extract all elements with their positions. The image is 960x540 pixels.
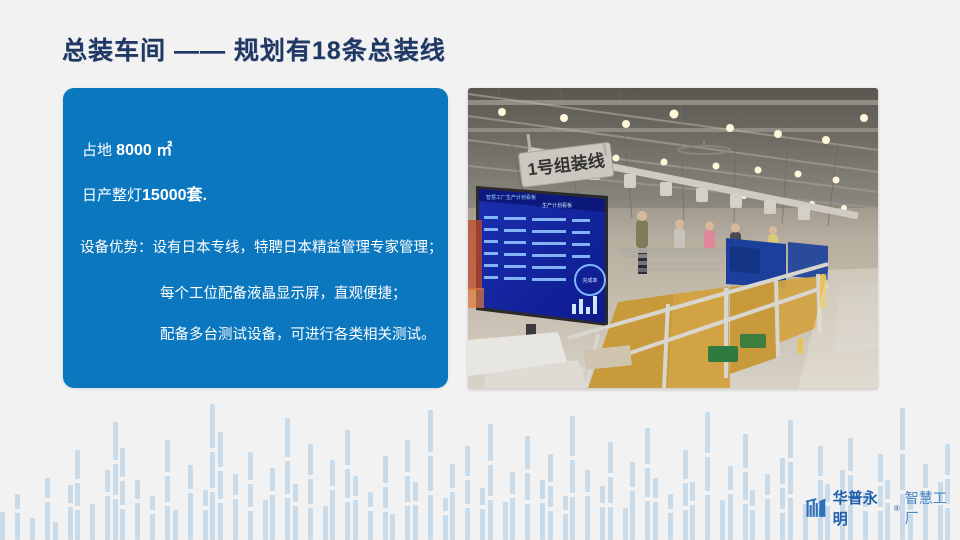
bar-gap — [443, 511, 448, 515]
decorative-bar — [203, 490, 208, 540]
decorative-bar — [233, 474, 238, 540]
bar-gap — [308, 475, 313, 479]
decorative-bar — [113, 422, 118, 540]
area-label: 占地 — [82, 142, 116, 159]
decorative-bar — [705, 412, 710, 540]
svg-text:完成率: 完成率 — [582, 277, 597, 284]
bar-gap — [488, 461, 493, 465]
bar-gap — [563, 510, 568, 514]
logo-sub-brand: 智慧工厂 — [905, 488, 960, 528]
bar-gap — [218, 467, 223, 471]
bar-gap — [405, 502, 410, 506]
decorative-bar — [45, 478, 50, 540]
bar-gap — [233, 495, 238, 499]
bar-gap — [150, 510, 155, 514]
slide-root: 总装车间 —— 规划有18条总装线 占地 8000 ㎡ 日产整灯15000套. … — [0, 0, 960, 540]
decorative-bar — [30, 518, 35, 540]
bar-gap — [465, 476, 470, 480]
workshop-photo-illustration: 1号组装线 智慧工厂生产计划看板 生产计划看板 — [468, 88, 878, 389]
bar-gap — [210, 488, 215, 492]
info-card: 占地 8000 ㎡ 日产整灯15000套. 设备优势：设有日本专线，特聘日本精益… — [63, 88, 448, 388]
page-title: 总装车间 —— 规划有18条总装线 — [62, 31, 446, 67]
bar-gap — [788, 458, 793, 462]
output-value: 15000套. — [142, 187, 207, 204]
decorative-bar — [353, 476, 358, 540]
decorative-bar — [548, 454, 553, 540]
bar-gap — [570, 493, 575, 497]
decorative-bar — [540, 480, 545, 540]
decorative-bar — [750, 490, 755, 540]
bar-gap — [210, 448, 215, 452]
bar-gap — [428, 452, 433, 456]
bar-gap — [743, 500, 748, 504]
bar-gap — [465, 504, 470, 508]
svg-text:智慧工厂生产计划看板: 智慧工厂生产计划看板 — [486, 194, 536, 201]
bar-gap — [120, 477, 125, 481]
bar-gap — [645, 464, 650, 468]
decorative-bar — [690, 482, 695, 540]
bar-gap — [705, 491, 710, 495]
decorative-bar — [683, 450, 688, 540]
area-line: 占地 8000 ㎡ — [82, 141, 172, 160]
decorative-bar — [668, 494, 673, 540]
decorative-bar — [480, 488, 485, 540]
decorative-bar — [428, 410, 433, 540]
bar-gap — [488, 496, 493, 500]
bar-gap — [480, 505, 485, 509]
bar-gap — [570, 456, 575, 460]
bar-gap — [600, 503, 605, 507]
decorative-bar — [525, 436, 530, 540]
bar-gap — [780, 484, 785, 488]
bar-gap — [405, 472, 410, 476]
decorative-bar — [570, 416, 575, 540]
decorative-bar — [390, 514, 395, 540]
decorative-bar — [465, 446, 470, 540]
bar-gap — [510, 494, 515, 498]
decorative-bar — [90, 504, 95, 540]
decorative-bar — [608, 442, 613, 540]
bar-gap — [945, 475, 950, 479]
decorative-bar — [293, 484, 298, 540]
bar-gap — [345, 465, 350, 469]
advantage-line-2: 每个工位配备液晶显示屏，直观便捷； — [160, 286, 407, 303]
workshop-photo: 1号组装线 智慧工厂生产计划看板 生产计划看板 — [468, 88, 878, 389]
bar-gap — [788, 494, 793, 498]
decorative-bar — [413, 482, 418, 540]
bar-gap — [585, 492, 590, 496]
bar-gap — [728, 490, 733, 494]
bar-gap — [75, 479, 80, 483]
bar-gap — [668, 509, 673, 513]
logo-brand-name: 华普永明 — [833, 487, 892, 529]
decorative-bar — [0, 512, 5, 540]
bar-gap — [525, 469, 530, 473]
decorative-bar — [210, 404, 215, 540]
bar-gap — [548, 507, 553, 511]
logo-registered-mark: ® — [894, 504, 900, 513]
bar-gap — [540, 499, 545, 503]
bar-gap — [645, 497, 650, 501]
output-line: 日产整灯15000套. — [82, 186, 207, 205]
advantage-line-3: 配备多台测试设备，可进行各类相关测试。 — [160, 327, 436, 344]
decorative-bar — [285, 418, 290, 540]
decorative-bar — [330, 460, 335, 540]
bar-gap — [188, 489, 193, 493]
bar-gap — [383, 483, 388, 487]
bar-gap — [345, 498, 350, 502]
bar-gap — [285, 494, 290, 498]
decorative-bar — [653, 478, 658, 540]
bar-gap — [293, 502, 298, 506]
bar-gap — [120, 505, 125, 509]
bar-gap — [135, 499, 140, 503]
decorative-bar — [383, 456, 388, 540]
bar-gap — [743, 468, 748, 472]
bar-gap — [248, 507, 253, 511]
bar-gap — [750, 506, 755, 510]
bar-gap — [608, 503, 613, 507]
advantage-line-1: 设备优势：设有日本专线，特聘日本精益管理专家管理； — [80, 240, 443, 257]
bar-gap — [368, 507, 373, 511]
output-label: 日产整灯 — [82, 187, 142, 204]
bar-gap — [525, 500, 530, 504]
decorative-bar — [135, 480, 140, 540]
bar-gap — [848, 471, 853, 475]
decorative-bar — [75, 450, 80, 540]
decorative-bar — [105, 470, 110, 540]
bar-gap — [353, 496, 358, 500]
decorative-bar — [645, 428, 650, 540]
svg-text:生产计划看板: 生产计划看板 — [542, 202, 572, 209]
bar-gap — [765, 495, 770, 499]
bar-gap — [683, 506, 688, 510]
decorative-bar — [165, 440, 170, 540]
bar-gap — [105, 492, 110, 496]
bar-gap — [630, 487, 635, 491]
bar-gap — [548, 482, 553, 486]
bar-gap — [690, 501, 695, 505]
bar-gap — [75, 506, 80, 510]
bar-gap — [165, 502, 170, 506]
decorative-bar — [728, 466, 733, 540]
bar-gap — [308, 504, 313, 508]
bar-gap — [270, 491, 275, 495]
bar-gap — [330, 486, 335, 490]
decorative-bar — [585, 470, 590, 540]
bar-gap — [705, 453, 710, 457]
decorative-bar — [248, 452, 253, 540]
bar-gap — [113, 495, 118, 499]
decorative-bar — [263, 500, 268, 540]
bar-gap — [218, 499, 223, 503]
decorative-bar — [218, 432, 223, 540]
decorative-bar — [270, 468, 275, 540]
decorative-bar — [623, 508, 628, 540]
decorative-bar — [743, 434, 748, 540]
bar-gap — [878, 482, 883, 486]
decorative-bar — [323, 506, 328, 540]
decorative-bar — [68, 485, 73, 540]
footer-logo: 华普永明 ® 智慧工厂 — [806, 487, 960, 529]
decorative-bar — [600, 486, 605, 540]
decorative-bar — [788, 420, 793, 540]
bar-gap — [780, 509, 785, 513]
decorative-bar — [188, 465, 193, 540]
decorative-bar — [53, 522, 58, 540]
bar-gap — [900, 450, 905, 454]
decorative-bar — [765, 474, 770, 540]
bar-gap — [683, 479, 688, 483]
decorative-bar — [488, 424, 493, 540]
decorative-bar — [630, 462, 635, 540]
bar-gap — [285, 457, 290, 461]
area-value: 8000 ㎡ — [116, 142, 172, 159]
bar-gap — [203, 506, 208, 510]
building-bars-logo-icon — [806, 498, 828, 518]
bar-gap — [608, 473, 613, 477]
bar-gap — [818, 476, 823, 480]
bar-gap — [68, 503, 73, 507]
bar-gap — [428, 491, 433, 495]
decorative-bar — [120, 448, 125, 540]
bar-gap — [413, 501, 418, 505]
bar-gap — [248, 480, 253, 484]
bar-gap — [450, 488, 455, 492]
decorative-bar — [345, 430, 350, 540]
decorative-bar — [450, 464, 455, 540]
bar-gap — [165, 472, 170, 476]
decorative-bar — [503, 502, 508, 540]
bar-gap — [383, 508, 388, 512]
decorative-bar — [405, 440, 410, 540]
decorative-bar — [780, 458, 785, 540]
decorative-bar — [443, 498, 448, 540]
decorative-bar — [563, 496, 568, 540]
decorative-bar — [15, 494, 20, 540]
bar-gap — [15, 509, 20, 513]
decorative-bar — [720, 500, 725, 540]
bar-gap — [45, 498, 50, 502]
decorative-bar — [150, 496, 155, 540]
decorative-bar — [368, 492, 373, 540]
decorative-bar — [173, 510, 178, 540]
decorative-bar — [308, 444, 313, 540]
bar-gap — [653, 498, 658, 502]
bar-gap — [113, 460, 118, 464]
decorative-bar — [510, 472, 515, 540]
